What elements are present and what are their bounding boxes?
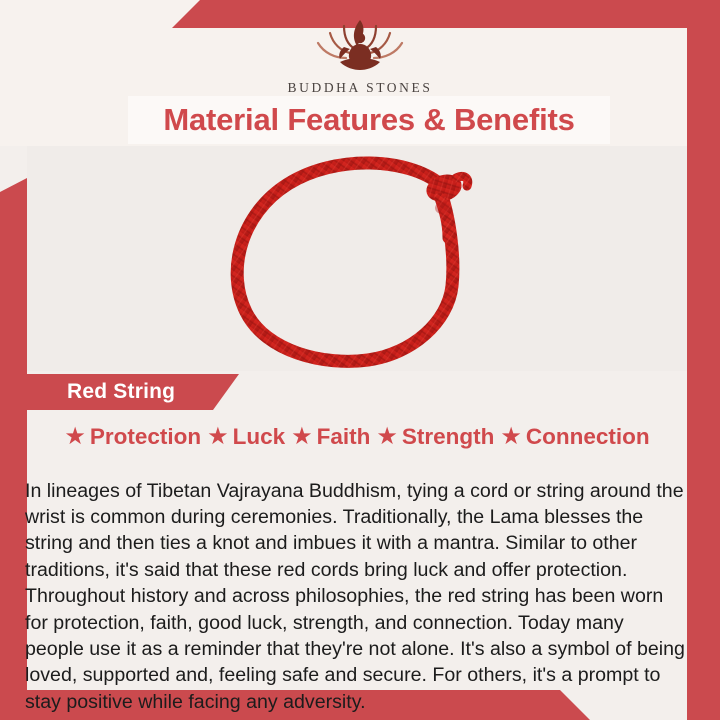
infographic-page: BUDDHA STONES Material Features & Benefi… — [0, 0, 720, 720]
description-text: In lineages of Tibetan Vajrayana Buddhis… — [25, 478, 687, 716]
feature-item-connection: ★ Connection — [500, 424, 649, 450]
feature-label: Faith — [317, 424, 371, 450]
feature-item-luck: ★ Luck — [207, 424, 285, 450]
feature-label: Luck — [233, 424, 286, 450]
star-icon: ★ — [207, 425, 229, 449]
frame-left-bar — [0, 178, 27, 700]
star-icon: ★ — [64, 425, 86, 449]
page-title-band: Material Features & Benefits — [128, 96, 610, 144]
feature-list: ★ Protection ★ Luck ★ Faith ★ Strength ★… — [27, 419, 687, 455]
lotus-meditation-icon — [300, 14, 420, 76]
page-title: Material Features & Benefits — [163, 102, 574, 138]
feature-item-strength: ★ Strength — [376, 424, 494, 450]
product-image — [27, 146, 687, 371]
brand-name: BUDDHA STONES — [288, 80, 433, 96]
product-name: Red String — [67, 380, 175, 404]
red-string-bracelet-illustration — [212, 146, 502, 371]
feature-label: Protection — [90, 424, 201, 450]
star-icon: ★ — [500, 425, 522, 449]
frame-right-bar — [687, 0, 720, 720]
star-icon: ★ — [291, 425, 313, 449]
brand-logo: BUDDHA STONES — [0, 14, 720, 96]
feature-label: Connection — [526, 424, 650, 450]
feature-item-faith: ★ Faith — [291, 424, 370, 450]
feature-item-protection: ★ Protection — [64, 424, 201, 450]
star-icon: ★ — [376, 425, 398, 449]
product-name-ribbon: Red String — [27, 374, 239, 410]
feature-label: Strength — [402, 424, 495, 450]
